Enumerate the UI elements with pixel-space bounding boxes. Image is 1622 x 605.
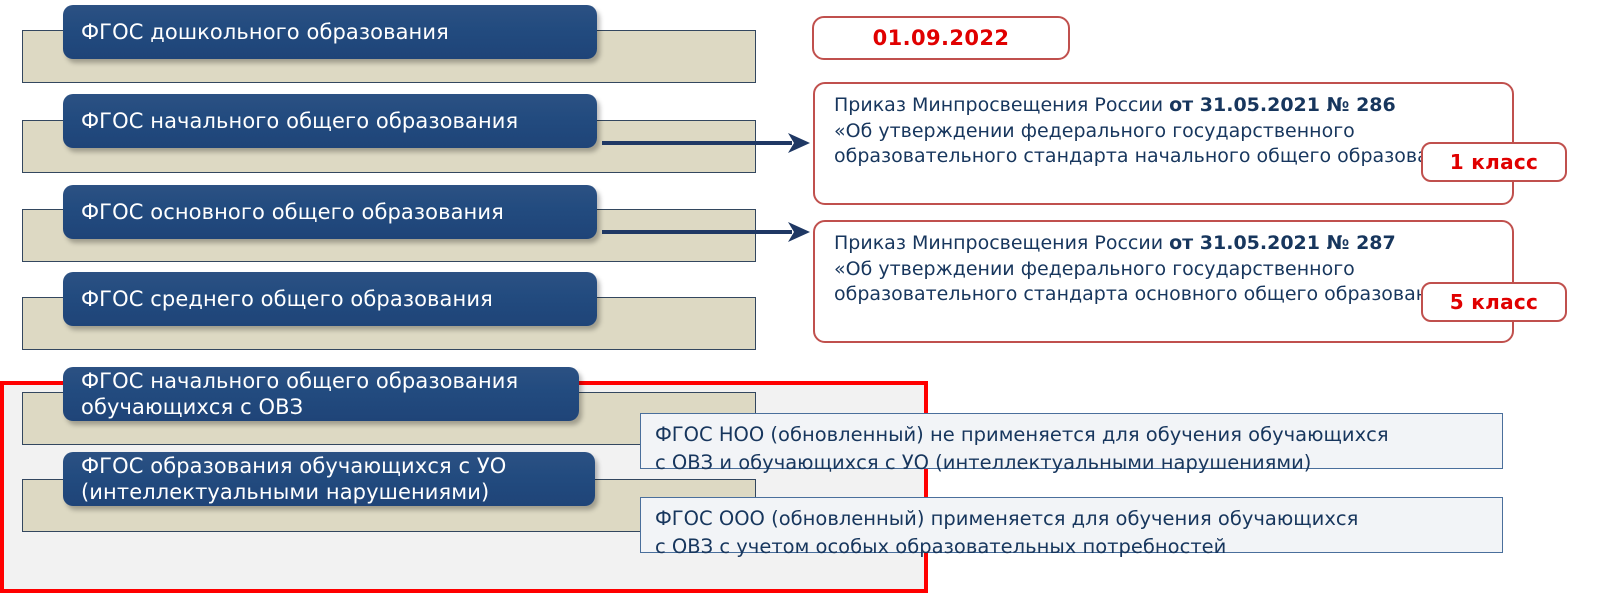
note-noo-line-2: с ОВЗ и обучающихся с УО (интеллектуальн… [655,449,1490,477]
grade-badge-1[interactable]: 1 класс [1421,142,1567,182]
order-286-number: от 31.05.2021 № 286 [1169,94,1396,116]
standard-label-secondary-general: ФГОС среднего общего образования [81,286,493,312]
slide-canvas: ФГОС дошкольного образования ФГОС началь… [0,0,1622,605]
standard-box-secondary-general[interactable]: ФГОС среднего общего образования [63,272,597,326]
standard-box-primary-general[interactable]: ФГОС начального общего образования [63,94,597,148]
arrow-to-order-286 [600,128,810,158]
note-box-ooo: ФГОС ООО (обновленный) применяется для о… [640,497,1503,553]
order-286-title: «Об утверждении федерального государстве… [834,120,1477,168]
note-ooo-line-2: с ОВЗ с учетом особых образовательных по… [655,533,1490,561]
order-box-286[interactable]: Приказ Минпросвещения России от 31.05.20… [813,82,1514,205]
standard-box-uo[interactable]: ФГОС образования обучающихся с УО (интел… [63,452,595,506]
order-287-number: от 31.05.2021 № 287 [1169,232,1396,254]
grade-badge-1-label: 1 класс [1450,150,1538,174]
order-287-title: «Об утверждении федерального государстве… [834,258,1464,306]
order-287-prefix: Приказ Минпросвещения России [834,232,1169,254]
standard-label-basic-general: ФГОС основного общего образования [81,199,504,225]
standard-label-uo: ФГОС образования обучающихся с УО (интел… [81,453,581,505]
standard-label-primary-owz: ФГОС начального общего образования обуча… [81,368,565,420]
note-ooo-line-1: ФГОС ООО (обновленный) применяется для о… [655,505,1490,533]
standard-label-primary-general: ФГОС начального общего образования [81,108,518,134]
grade-badge-5-label: 5 класс [1450,290,1538,314]
note-noo-line-1: ФГОС НОО (обновленный) не применяется дл… [655,421,1490,449]
effective-date-label: 01.09.2022 [873,26,1010,50]
standard-box-primary-owz[interactable]: ФГОС начального общего образования обуча… [63,367,579,421]
effective-date-pill[interactable]: 01.09.2022 [812,16,1070,60]
order-286-prefix: Приказ Минпросвещения России [834,94,1169,116]
standard-box-basic-general[interactable]: ФГОС основного общего образования [63,185,597,239]
standard-box-preschool[interactable]: ФГОС дошкольного образования [63,5,597,59]
grade-badge-5[interactable]: 5 класс [1421,282,1567,322]
order-box-287[interactable]: Приказ Минпросвещения России от 31.05.20… [813,220,1514,343]
note-box-noo: ФГОС НОО (обновленный) не применяется дл… [640,413,1503,469]
standard-label-preschool: ФГОС дошкольного образования [81,19,449,45]
arrow-to-order-287 [600,217,810,247]
